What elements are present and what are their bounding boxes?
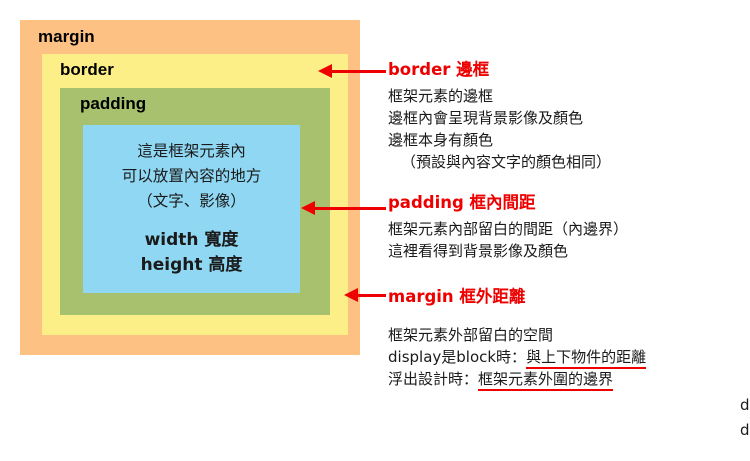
content-line-1: 這是框架元素內 [83, 139, 300, 164]
arrow-to-border-icon [318, 64, 386, 78]
width-label: width 寬度 [83, 228, 300, 253]
margin-box: margin border padding 這是框架元素內 可以放置內容的地方 … [20, 20, 360, 355]
height-label: height 高度 [83, 253, 300, 278]
annotation-margin-block-line: display是block時：與上下物件的距離 [388, 346, 750, 368]
content-line-3: （文字、影像） [83, 189, 300, 214]
annotation-padding-line-1: 框架元素內部留白的間距（內邊界） [388, 218, 750, 240]
annotation-flex-line: display是flex的子元素之間：框架元素外圍的邊界 [740, 418, 750, 443]
content-dimension-lines: width 寬度 height 高度 [83, 228, 300, 278]
annotation-inline-block-line: display是inline-block時：框架元素外圍的邊界 [740, 393, 750, 418]
content-box-text: 這是框架元素內 可以放置內容的地方 （文字、影像） width 寬度 heigh… [83, 139, 300, 278]
annotation-border-line-1: 框架元素的邊框 [388, 85, 750, 107]
content-box: 這是框架元素內 可以放置內容的地方 （文字、影像） width 寬度 heigh… [83, 125, 300, 293]
annotation-flex-prefix: display是flex的子元素之間： [740, 421, 750, 439]
annotation-border-line-3: 邊框本身有顏色 [388, 129, 750, 151]
annotation-group-margin: margin 框外距離 框架元素外部留白的空間 display是block時：與… [388, 283, 750, 390]
annotation-group-display-modes: display是inline-block時：框架元素外圍的邊界 display是… [740, 393, 750, 443]
margin-box-label: margin [38, 27, 95, 47]
box-model-diagram-canvas: margin border padding 這是框架元素內 可以放置內容的地方 … [0, 0, 750, 461]
annotation-group-padding: padding 框內間距 框架元素內部留白的間距（內邊界） 這裡看得到背景影像及… [388, 189, 750, 262]
padding-box-label: padding [80, 94, 146, 114]
annotation-title-padding: padding 框內間距 [388, 189, 750, 213]
arrow-to-margin-icon [344, 288, 386, 302]
annotation-border-line-2: 邊框內會呈現背景影像及顏色 [388, 107, 750, 129]
annotation-margin-float-underlined: 框架元素外圍的邊界 [478, 370, 613, 391]
arrow-shaft [313, 207, 386, 210]
annotation-title-margin: margin 框外距離 [388, 283, 750, 307]
annotation-margin-line-1: 框架元素外部留白的空間 [388, 324, 750, 346]
annotation-spacer [388, 312, 750, 324]
content-line-2: 可以放置內容的地方 [83, 164, 300, 189]
border-box-label: border [60, 60, 114, 80]
padding-box: padding 這是框架元素內 可以放置內容的地方 （文字、影像） width … [60, 88, 330, 315]
annotation-margin-float-prefix: 浮出設計時： [388, 370, 478, 388]
annotation-padding-line-2: 這裡看得到背景影像及顏色 [388, 240, 750, 262]
annotation-inline-block-prefix: display是inline-block時： [740, 396, 750, 414]
arrow-shaft [330, 70, 386, 73]
annotation-margin-block-underlined: 與上下物件的距離 [526, 348, 646, 369]
annotation-border-line-4: （預設與內容文字的顏色相同） [388, 151, 750, 173]
annotation-group-border: border 邊框 框架元素的邊框 邊框內會呈現背景影像及顏色 邊框本身有顏色 … [388, 56, 750, 173]
arrow-shaft [356, 294, 386, 297]
border-box: border padding 這是框架元素內 可以放置內容的地方 （文字、影像）… [42, 54, 348, 335]
annotation-margin-block-prefix: display是block時： [388, 348, 526, 366]
arrow-to-padding-icon [301, 201, 386, 215]
annotation-column: border 邊框 框架元素的邊框 邊框內會呈現背景影像及顏色 邊框本身有顏色 … [388, 0, 750, 461]
annotation-margin-float-line: 浮出設計時：框架元素外圍的邊界 [388, 368, 750, 390]
annotation-title-border: border 邊框 [388, 56, 750, 80]
